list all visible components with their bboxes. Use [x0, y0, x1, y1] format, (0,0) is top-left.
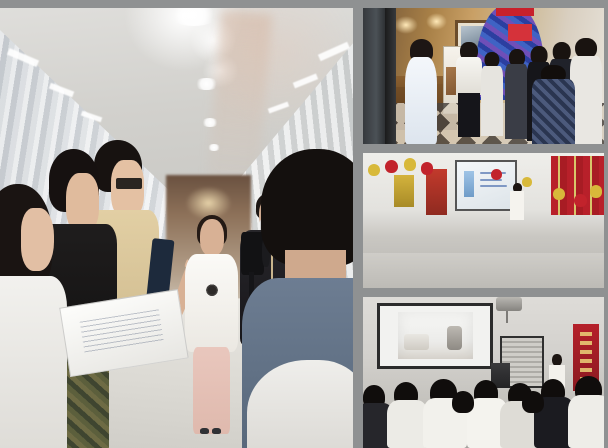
- audience-torso: [387, 400, 428, 448]
- photo-seminar-audience[interactable]: [363, 153, 604, 288]
- balloon-icon: [590, 185, 602, 197]
- person-visitor: [481, 52, 503, 136]
- person-speaker: [510, 183, 524, 221]
- red-wall-panel: [426, 169, 448, 215]
- hair: [261, 149, 353, 266]
- shirt-graphic: [204, 283, 220, 299]
- shoe: [200, 428, 209, 434]
- white-dress: [0, 276, 67, 448]
- audience-head: [452, 391, 474, 414]
- red-banner: [508, 24, 532, 40]
- balloon-icon: [522, 177, 532, 186]
- ceiling-light-icon: [201, 118, 219, 127]
- shoe: [212, 428, 221, 434]
- floor: [363, 253, 604, 288]
- red-banner: [496, 8, 535, 16]
- projector-icon: [496, 297, 523, 311]
- interior-design-render: [398, 312, 473, 359]
- person-guide-white-dress: [404, 39, 438, 144]
- pendant-lamp-icon: [394, 16, 418, 34]
- white-top: [510, 191, 524, 220]
- ceiling-light-icon: [194, 78, 219, 89]
- photo-showroom-tour[interactable]: [363, 8, 604, 144]
- audience-torso: [568, 395, 604, 448]
- projection-screen: [455, 160, 518, 211]
- photo-collage: [0, 0, 608, 448]
- white-dress: [405, 57, 437, 144]
- seminar-scene: [363, 153, 604, 288]
- white-tshirt: [185, 254, 238, 352]
- person-visitor: [505, 49, 528, 139]
- lecture-scene: [363, 297, 604, 448]
- person-presenter-tour: [455, 42, 484, 137]
- torso: [481, 66, 503, 136]
- balloon-icon: [385, 160, 398, 174]
- photo-corridor-presentation[interactable]: [0, 8, 353, 448]
- balloon-icon: [491, 169, 502, 180]
- slide-text-line: [480, 185, 507, 187]
- door-frame: [385, 8, 396, 144]
- balloon-icon: [421, 162, 433, 174]
- person-visitor-foreground: [532, 65, 575, 144]
- balloon-icon: [404, 158, 416, 170]
- person-presenter: [182, 219, 242, 448]
- balloon-icon: [368, 164, 380, 176]
- trousers: [193, 347, 230, 434]
- white-top: [456, 57, 483, 95]
- showroom-scene: [363, 8, 604, 144]
- pendant-lamp-icon: [426, 13, 448, 29]
- slide-image: [464, 171, 475, 197]
- corridor-scene: [0, 8, 353, 448]
- projection-screen: [377, 303, 493, 369]
- black-trousers: [458, 93, 480, 137]
- wall-poster: [394, 175, 413, 207]
- door-frame: [363, 8, 385, 144]
- photo-design-lecture[interactable]: [363, 297, 604, 448]
- torso: [505, 64, 528, 138]
- balloon-icon: [574, 194, 587, 208]
- patterned-dress: [532, 79, 575, 144]
- head: [200, 219, 224, 256]
- audience-head: [522, 391, 544, 414]
- face: [21, 208, 54, 271]
